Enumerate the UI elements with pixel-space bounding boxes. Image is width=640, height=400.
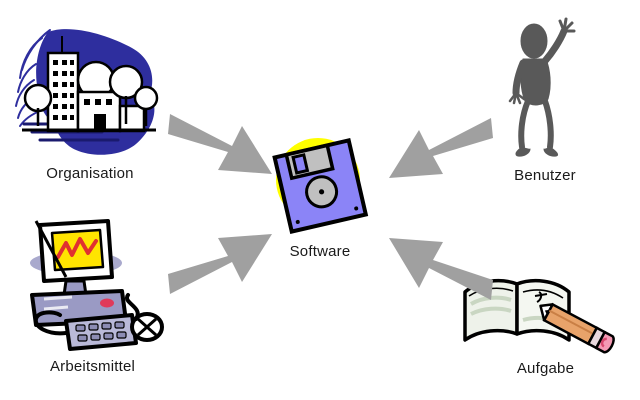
diagram-node-label-organisation: Organisation — [10, 165, 170, 182]
arrow-benutzer-to-software — [383, 108, 493, 193]
computer-workstation-icon — [10, 215, 175, 355]
diagram-node-label-aufgabe: Aufgabe — [463, 360, 628, 377]
floppy-disk-icon — [260, 130, 380, 240]
arrow-aufgabe-to-software — [383, 222, 493, 312]
diagram-node-label-arbeitsmittel: Arbeitsmittel — [10, 358, 175, 375]
waving-person-icon — [490, 15, 600, 165]
diagram-canvas: Organisation — [0, 0, 640, 400]
arrow-organisation-to-software — [168, 100, 278, 185]
diagram-node-arbeitsmittel[interactable]: Arbeitsmittel — [10, 215, 190, 390]
arrow-arbeitsmittel-to-software — [168, 222, 278, 307]
office-buildings-icon — [10, 20, 170, 160]
diagram-node-benutzer[interactable]: Benutzer — [470, 15, 630, 195]
diagram-node-organisation[interactable]: Organisation — [10, 20, 190, 190]
